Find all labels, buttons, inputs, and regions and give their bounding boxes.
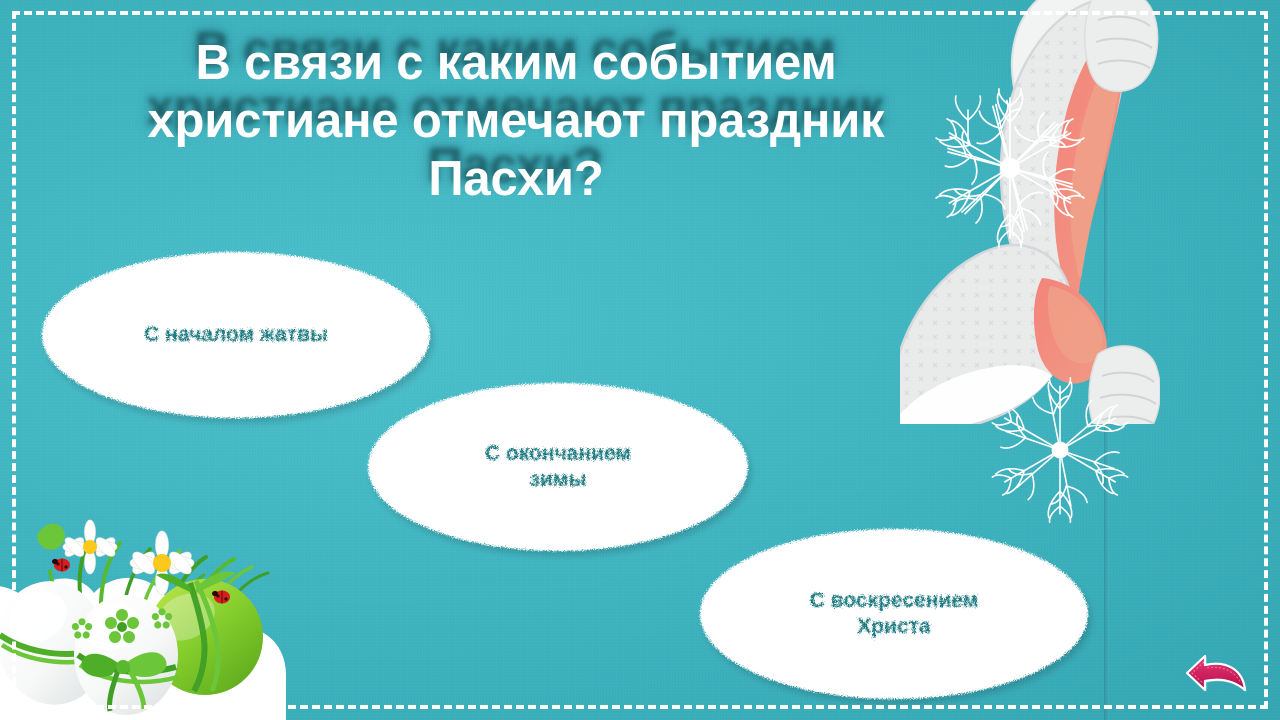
bunny-paw-upper [1085,0,1158,91]
answer-option-2-label: С окончанием зимы [459,441,657,493]
answer-option-1[interactable]: С началом жатвы [42,252,430,418]
answer-option-3[interactable]: С воскресением Христа [700,529,1088,699]
quiz-slide: В связи с каким событием христиане отмеч… [0,0,1280,720]
bunny-paw-lower [1089,346,1160,424]
back-arrow-icon [1187,656,1247,692]
answer-option-1-label: С началом жатвы [118,322,354,348]
back-arrow-button[interactable] [1181,650,1249,696]
question-title: В связи с каким событием христиане отмеч… [72,34,960,208]
answer-option-3-label: С воскресением Христа [784,588,1005,640]
easter-eggs-illustration [0,505,290,720]
leaf [37,524,65,550]
answer-option-2[interactable]: С окончанием зимы [368,383,748,551]
